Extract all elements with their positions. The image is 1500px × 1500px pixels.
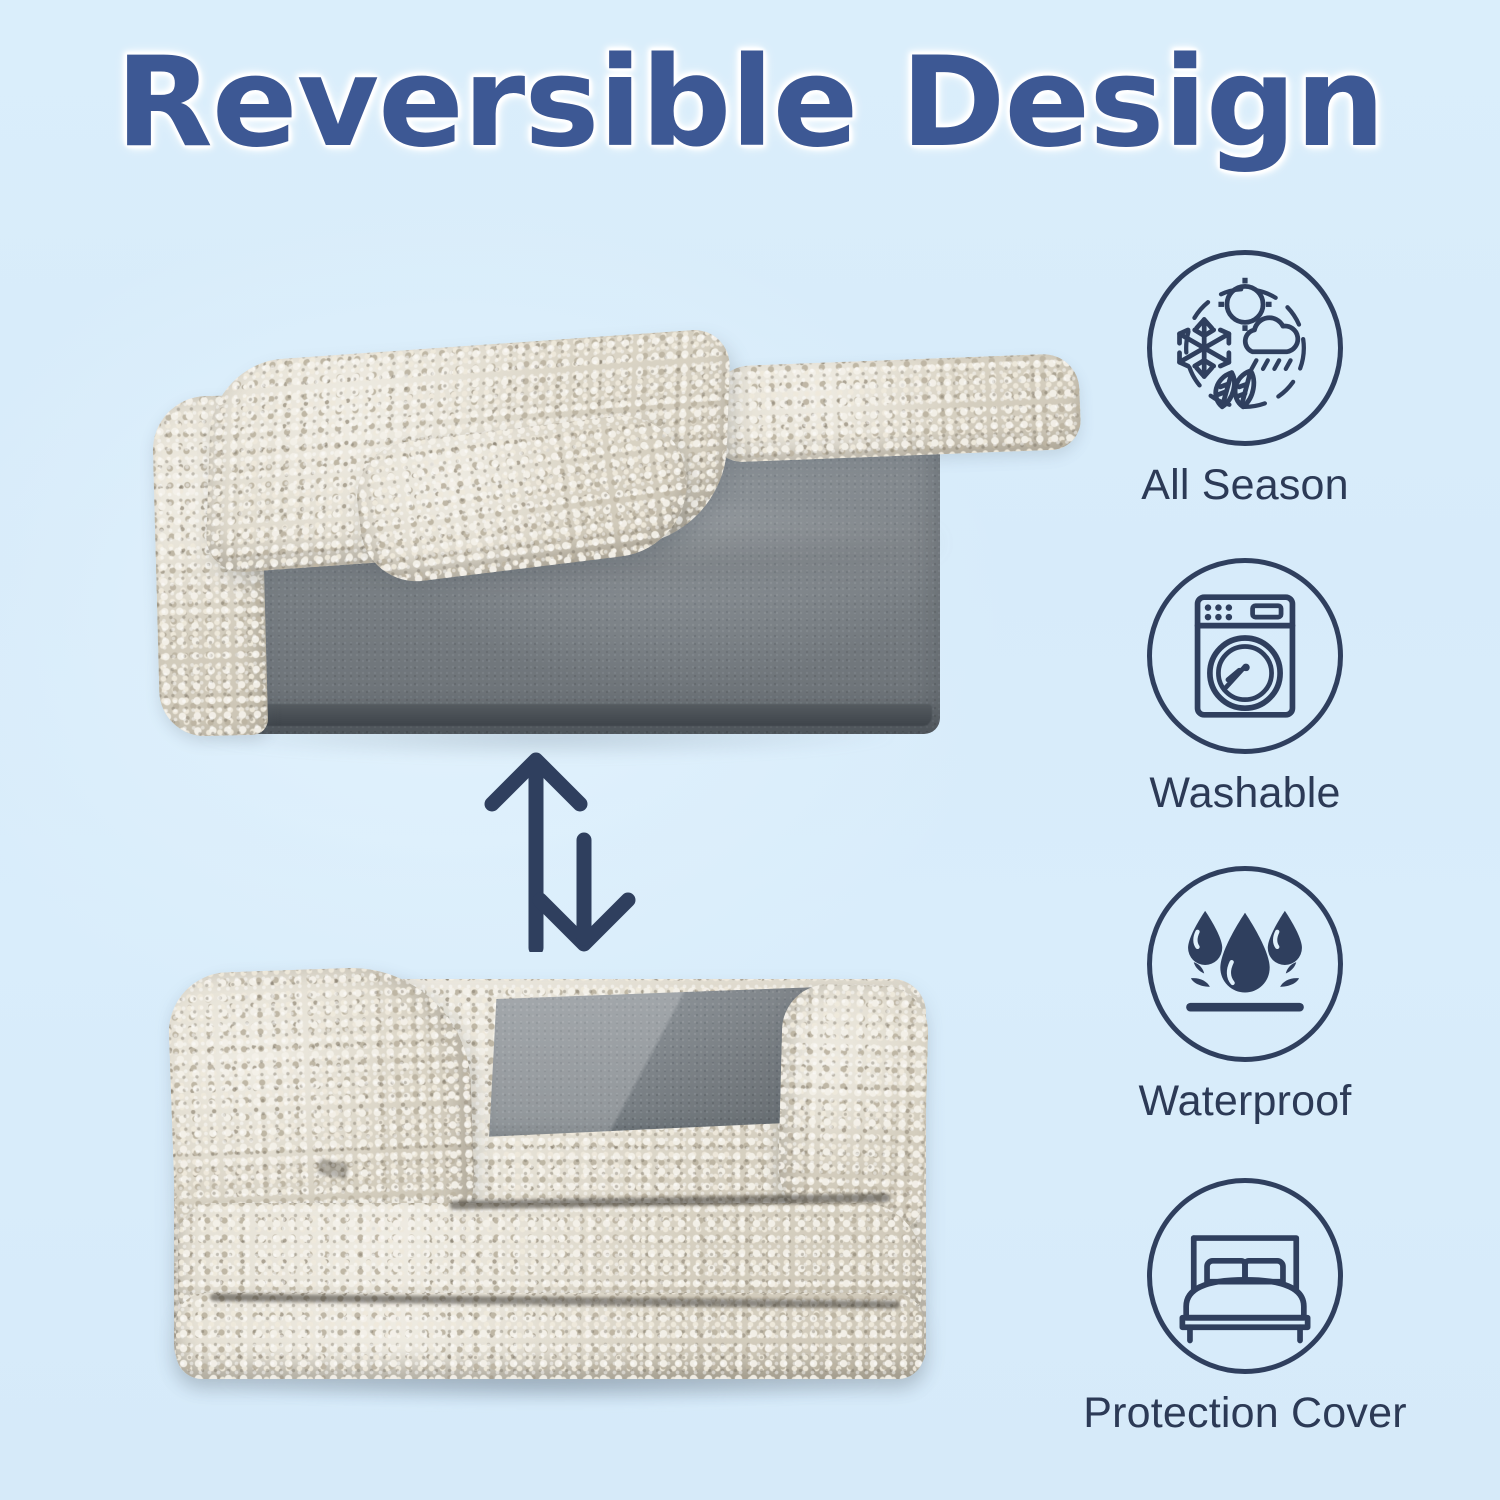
page-title: Reversible Design — [116, 38, 1385, 168]
reversible-arrow-icon — [470, 752, 650, 952]
feature-item-washable: Washable — [1055, 558, 1435, 866]
marketing-image: Reversible Design — [0, 0, 1500, 1500]
feature-label: Washable — [1055, 770, 1435, 817]
feature-label: All Season — [1055, 462, 1435, 509]
title-area: Reversible Design — [0, 38, 1500, 168]
feature-item-protection-cover: Protection Cover — [1055, 1178, 1435, 1478]
feature-item-waterproof: Waterproof — [1055, 866, 1435, 1178]
feature-label: Waterproof — [1055, 1078, 1435, 1125]
washing-machine-icon — [1147, 558, 1343, 754]
top-blanket-sherpa-top-edge — [706, 353, 1081, 463]
feature-item-all-season: All Season — [1055, 250, 1435, 558]
all-season-icon — [1147, 250, 1343, 446]
feature-label: Protection Cover — [1055, 1390, 1435, 1437]
feature-list: All Season — [1055, 250, 1435, 1478]
bed-icon — [1147, 1178, 1343, 1374]
water-drops-icon — [1147, 866, 1343, 1062]
top-blanket-bottom-edge — [248, 704, 932, 726]
top-blanket-photo — [148, 332, 943, 752]
bottom-blanket-photo — [150, 945, 950, 1415]
